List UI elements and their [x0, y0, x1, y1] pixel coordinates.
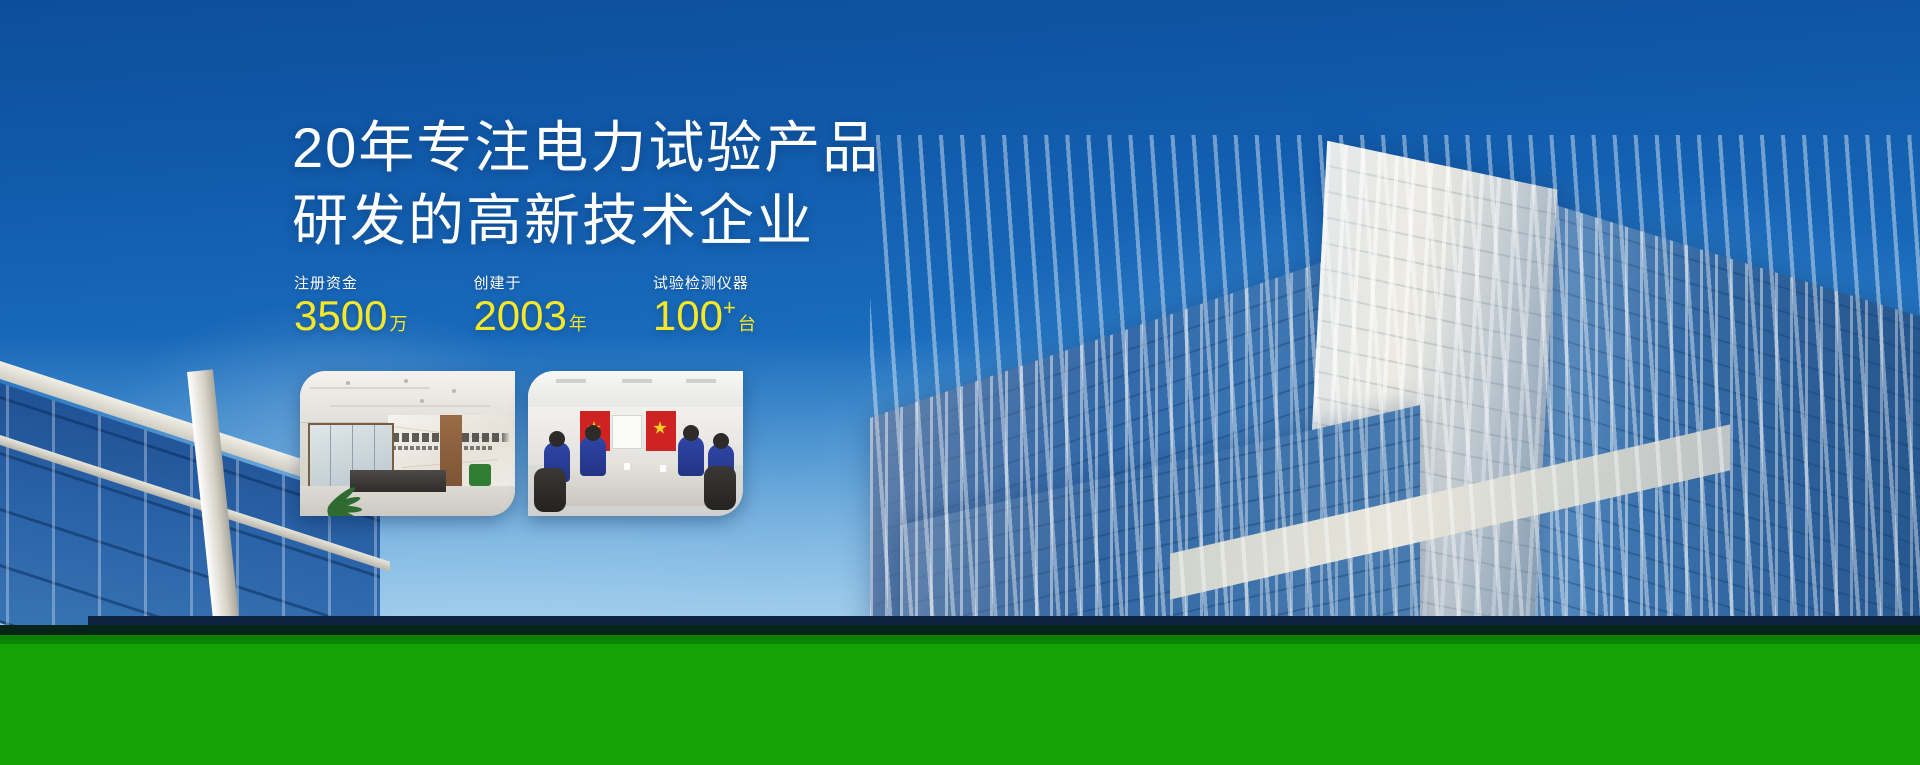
stat-label: 注册资金 — [294, 272, 407, 293]
seated-person — [678, 436, 704, 476]
ceiling-spotlight — [346, 381, 350, 385]
stat-founded-year: 创建于 2003年 — [473, 272, 586, 337]
stat-number: 2003 — [473, 292, 566, 339]
ceiling-light-strip — [330, 405, 490, 407]
photo-reception-area[interactable] — [300, 371, 515, 516]
stat-unit: 年 — [569, 314, 587, 334]
headline-line-2: 研发的高新技术企业 — [292, 185, 1052, 258]
stat-label: 创建于 — [473, 272, 586, 293]
ceiling-panel — [556, 379, 586, 383]
whiteboard — [612, 415, 642, 449]
cup — [660, 465, 666, 472]
national-flag — [646, 411, 676, 451]
stat-label: 试验检测仪器 — [653, 272, 756, 293]
page-title: 20年专注电力试验产品 研发的高新技术企业 — [292, 112, 1052, 258]
stat-number: 100 — [653, 292, 723, 339]
office-chair — [534, 468, 566, 512]
stat-number: 3500 — [294, 292, 387, 339]
ceiling-panel — [686, 379, 716, 383]
stat-superscript: + — [723, 295, 736, 320]
company-photo-gallery — [300, 371, 743, 516]
stat-value: 3500万 — [294, 295, 407, 337]
stat-registered-capital: 注册资金 3500万 — [294, 272, 407, 337]
company-banner: 20年专注电力试验产品 研发的高新技术企业 注册资金 3500万 创建于 200… — [0, 0, 1920, 765]
photo-meeting-room[interactable] — [528, 371, 743, 516]
office-chair — [704, 466, 736, 510]
wall-logo-plaque — [469, 464, 491, 486]
headline-line-1: 20年专注电力试验产品 — [292, 112, 1052, 185]
company-stats: 注册资金 3500万 创建于 2003年 试验检测仪器 100+台 — [294, 272, 756, 337]
stat-value: 100+台 — [653, 295, 756, 337]
seated-person — [580, 436, 606, 476]
ceiling-light-strip — [310, 387, 430, 389]
green-bar-top-highlight — [0, 641, 1920, 644]
ceiling-spotlight — [404, 379, 408, 383]
stat-unit: 台 — [738, 314, 756, 334]
ceiling — [528, 371, 743, 411]
green-footer-bar — [0, 635, 1920, 765]
ceiling-panel — [622, 379, 652, 383]
ceiling-spotlight — [420, 399, 424, 403]
potted-plant — [302, 458, 364, 516]
stat-unit: 万 — [389, 314, 407, 334]
cup — [624, 463, 630, 470]
reception-desk — [350, 470, 446, 492]
stat-value: 2003年 — [473, 295, 586, 337]
stat-test-instruments: 试验检测仪器 100+台 — [653, 272, 756, 337]
ceiling-spotlight — [452, 389, 456, 393]
